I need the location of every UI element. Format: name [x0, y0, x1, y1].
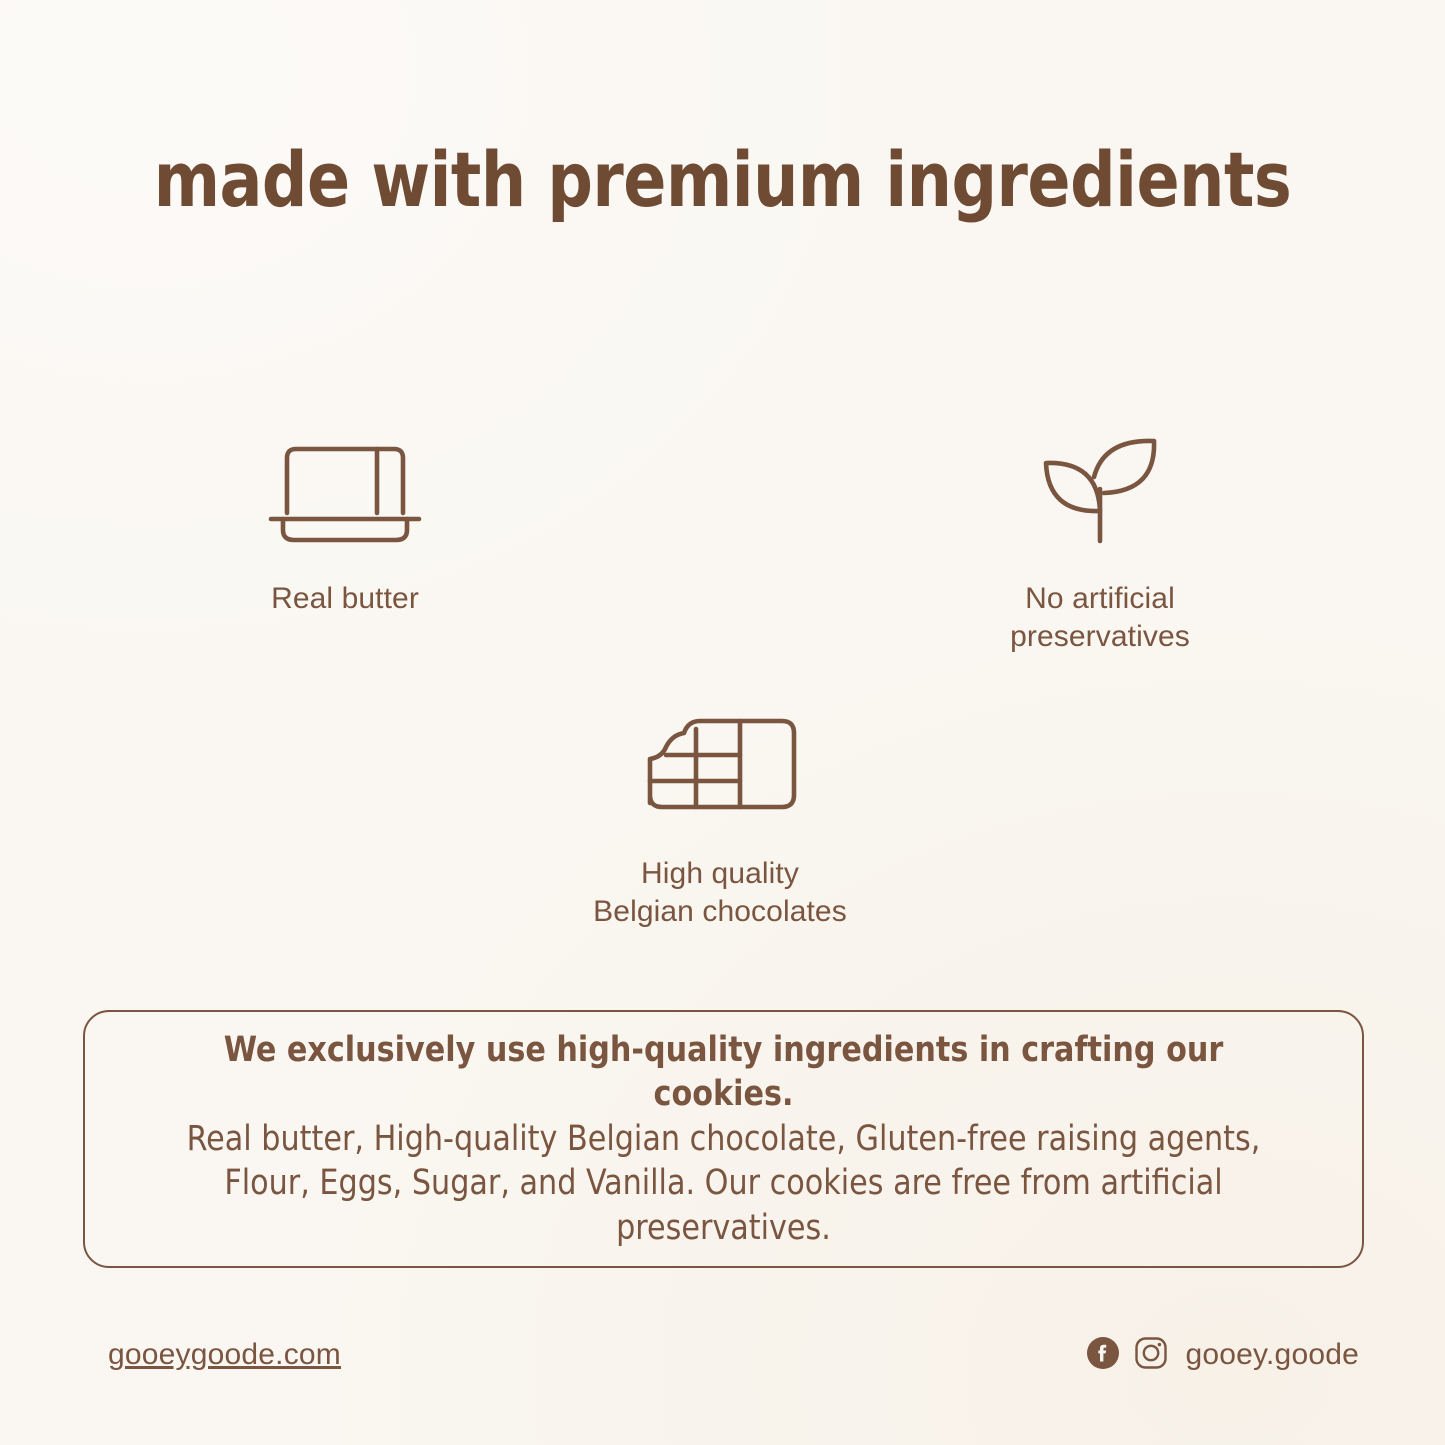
feature-label-line: preservatives: [1010, 620, 1190, 653]
feature-no-artificial-preservatives: No artificial preservatives: [945, 430, 1255, 657]
feature-real-butter: Real butter: [190, 430, 500, 618]
butter-dish-icon: [190, 430, 500, 550]
ingredients-body: Real butter, High-quality Belgian chocol…: [157, 1117, 1291, 1250]
ingredients-info-text: We exclusively use high-quality ingredie…: [111, 1028, 1337, 1250]
ingredients-info-box: We exclusively use high-quality ingredie…: [83, 1010, 1364, 1268]
page-title: made with premium ingredients: [51, 142, 1395, 218]
social-links: gooey.goode: [1086, 1330, 1359, 1380]
ingredients-headline: We exclusively use high-quality ingredie…: [157, 1028, 1291, 1117]
feature-label-line: Belgian chocolates: [593, 895, 847, 928]
footer: gooeygoode.com gooey.goode: [0, 1330, 1445, 1390]
feature-label: Real butter: [190, 580, 500, 618]
feature-label-line: High quality: [641, 857, 799, 890]
website-link[interactable]: gooeygoode.com: [108, 1330, 341, 1380]
feature-label-line: Real butter: [271, 582, 419, 615]
feature-label: High quality Belgian chocolates: [565, 855, 875, 932]
facebook-icon[interactable]: [1086, 1336, 1120, 1375]
social-handle: gooey.goode: [1186, 1338, 1359, 1372]
instagram-icon[interactable]: [1134, 1336, 1168, 1375]
feature-label-line: No artificial: [1025, 582, 1175, 615]
feature-label: No artificial preservatives: [945, 580, 1255, 657]
feature-belgian-chocolate: High quality Belgian chocolates: [565, 705, 875, 932]
poster-canvas: made with premium ingredients Real butte…: [0, 0, 1445, 1445]
sprout-leaf-icon: [945, 430, 1255, 550]
chocolate-bar-icon: [565, 705, 875, 825]
